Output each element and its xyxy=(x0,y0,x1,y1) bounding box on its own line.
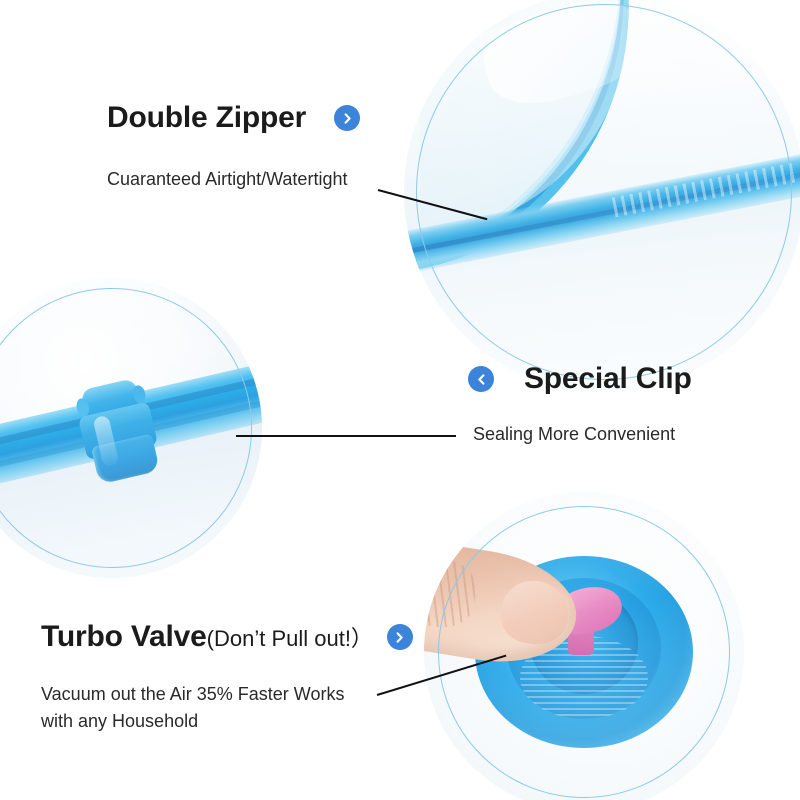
chevron-right-icon[interactable] xyxy=(334,105,360,131)
turbo-valve-title: Turbo Valve xyxy=(41,620,207,654)
special-clip-subtitle: Sealing More Convenient xyxy=(473,421,675,448)
double-zipper-subtitle: Cuaranteed Airtight/Watertight xyxy=(107,166,347,193)
chevron-left-icon[interactable] xyxy=(468,366,494,392)
fingertip xyxy=(497,575,573,648)
turbo-valve-photo xyxy=(424,492,744,800)
turbo-valve-title-note: (Don’t Pull out!） xyxy=(207,621,373,653)
chevron-right-icon[interactable] xyxy=(387,624,413,650)
turbo-valve-subtitle: Vacuum out the Air 35% Faster Works with… xyxy=(41,681,381,735)
special-clip-photo xyxy=(0,278,262,578)
double-zipper-title: Double Zipper xyxy=(107,101,306,135)
product-feature-infographic: Double Zipper Cuaranteed Airtight/Watert… xyxy=(0,0,800,800)
double-zipper-photo xyxy=(404,0,800,392)
finger-creases xyxy=(424,552,481,632)
double-zipper-headline: Double Zipper xyxy=(107,101,360,135)
leader-line-clip xyxy=(236,435,456,437)
special-clip-title: Special Clip xyxy=(524,362,692,396)
turbo-valve-headline: Turbo Valve (Don’t Pull out!） xyxy=(41,620,413,654)
special-clip-headline: Special Clip xyxy=(468,362,692,396)
